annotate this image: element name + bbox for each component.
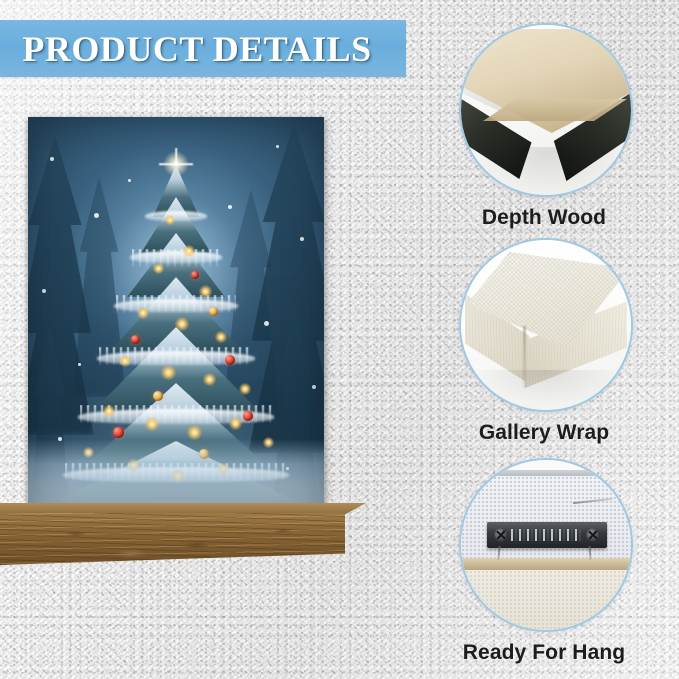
tree-light bbox=[229, 417, 242, 430]
tree-light bbox=[103, 405, 115, 417]
detail-item-ready-for-hang: Ready For Hang bbox=[459, 458, 649, 665]
canvas-back-surface bbox=[461, 476, 631, 562]
tree-light bbox=[203, 373, 216, 386]
depth-wood-photo bbox=[459, 23, 633, 197]
snowflake bbox=[94, 213, 99, 218]
snowflake bbox=[50, 157, 54, 161]
tree-ornament bbox=[225, 355, 235, 365]
artwork-snow-ground bbox=[28, 439, 324, 505]
tree-light bbox=[161, 365, 176, 380]
shelf-front-face bbox=[0, 513, 345, 565]
ready-for-hang-photo bbox=[459, 458, 633, 632]
product-details-banner: PRODUCT DETAILS bbox=[0, 20, 406, 77]
tree-ornament bbox=[113, 427, 124, 438]
page-title: PRODUCT DETAILS bbox=[22, 28, 383, 70]
snowflake bbox=[276, 145, 279, 148]
detail-item-depth-wood: Depth Wood bbox=[459, 23, 633, 230]
tree-light bbox=[215, 331, 227, 343]
tree-light bbox=[187, 425, 202, 440]
canvas-artwork bbox=[28, 117, 324, 505]
screw-icon bbox=[586, 528, 600, 542]
tree-ornament bbox=[191, 271, 199, 279]
snowflake bbox=[42, 289, 46, 293]
detail-label-gallery-wrap: Gallery Wrap bbox=[459, 421, 629, 445]
icicle-row bbox=[116, 295, 236, 313]
snowflake bbox=[312, 385, 316, 389]
tree-light bbox=[239, 383, 251, 395]
gallery-wrap-photo bbox=[459, 238, 633, 412]
snowflake bbox=[300, 237, 304, 241]
tree-ornament bbox=[209, 307, 218, 316]
tree-light bbox=[153, 263, 164, 274]
snowflake bbox=[78, 363, 81, 366]
tree-light bbox=[175, 317, 189, 331]
screw-icon bbox=[494, 528, 508, 542]
detail-label-ready-for-hang: Ready For Hang bbox=[439, 641, 649, 665]
gallery-wrap-shadow bbox=[471, 370, 621, 404]
tree-ornament bbox=[153, 391, 163, 401]
snowflake bbox=[264, 321, 269, 326]
tree-ornament bbox=[243, 411, 253, 421]
snowflake bbox=[128, 179, 131, 182]
sawtooth-hanger-icon bbox=[487, 522, 607, 548]
tree-light bbox=[199, 285, 212, 298]
detail-item-gallery-wrap: Gallery Wrap bbox=[459, 238, 633, 445]
tree-light bbox=[137, 307, 149, 319]
tree-light bbox=[165, 215, 175, 225]
floating-shelf bbox=[0, 503, 366, 565]
product-details-image: PRODUCT DETAILS bbox=[0, 0, 679, 679]
icicle-row bbox=[132, 249, 220, 267]
tree-light bbox=[183, 245, 195, 257]
tree-light bbox=[145, 417, 159, 431]
canvas-back-lower-surface bbox=[461, 570, 631, 630]
snow-cap bbox=[145, 211, 207, 221]
shelf-wood-grain bbox=[0, 513, 345, 565]
snowflake bbox=[228, 205, 232, 209]
tree-ornament bbox=[131, 335, 140, 344]
sawtooth-teeth bbox=[511, 529, 583, 541]
depth-wood-shadow bbox=[473, 147, 621, 193]
tree-light bbox=[119, 355, 131, 367]
detail-label-depth-wood: Depth Wood bbox=[459, 206, 629, 230]
